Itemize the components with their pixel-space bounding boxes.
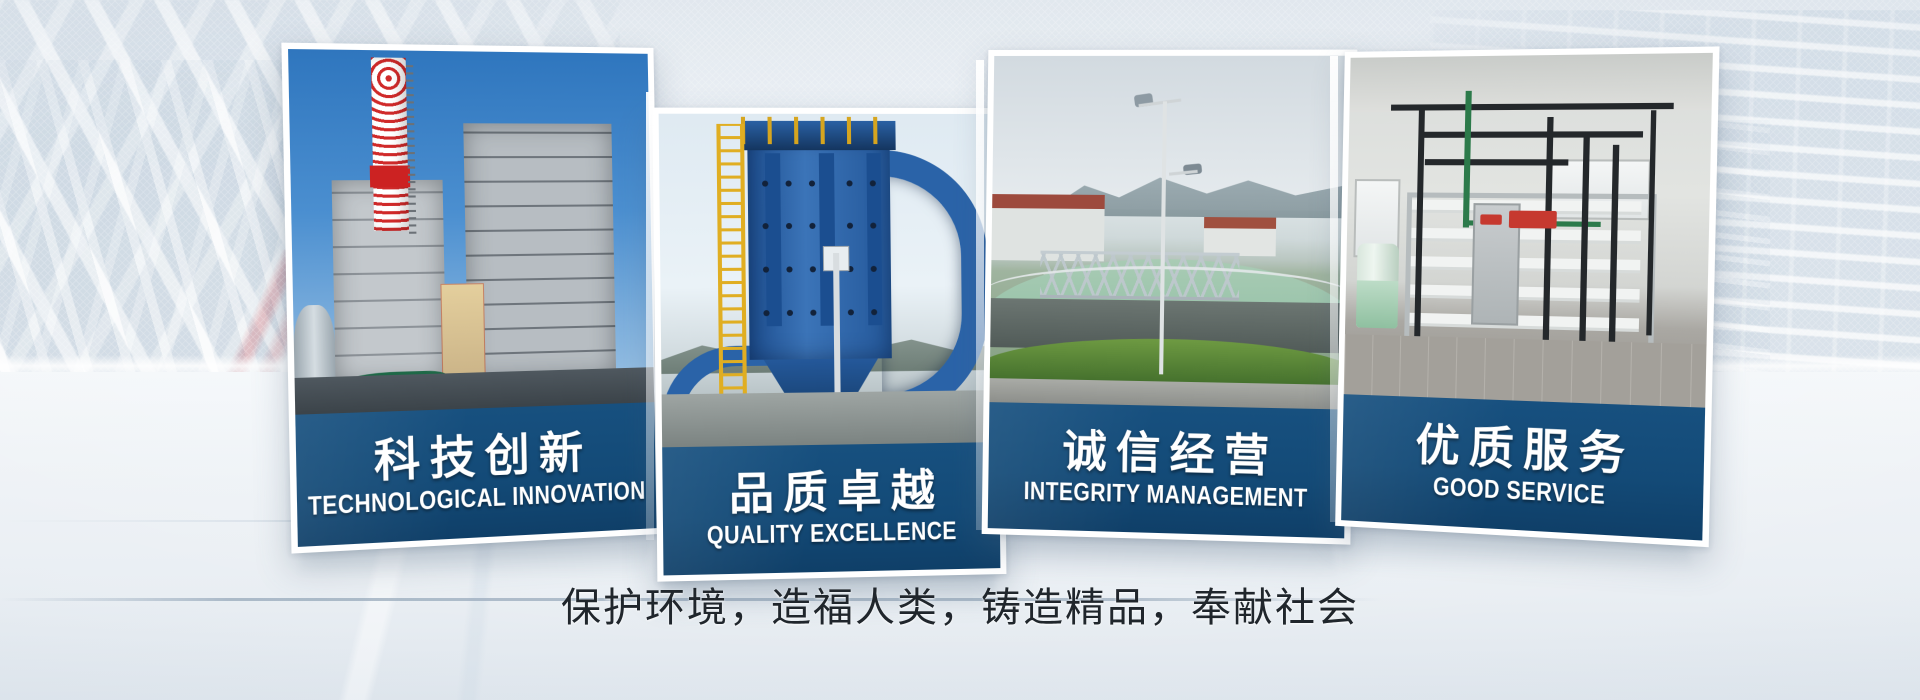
card-caption-band: 品质卓越 QUALITY EXCELLENCE bbox=[662, 442, 1000, 575]
card-integrity-management[interactable]: 诚信经营 INTEGRITY MANAGEMENT bbox=[982, 50, 1358, 545]
card-title-en: GOOD SERVICE bbox=[1432, 474, 1605, 508]
card-title-en: TECHNOLOGICAL INNOVATION bbox=[308, 478, 646, 520]
banner-tagline: 保护环境，造福人类，铸造精品，奉献社会 bbox=[0, 588, 1920, 628]
card-divider-3 bbox=[1330, 56, 1338, 522]
card-quality-excellence[interactable]: 品质卓越 QUALITY EXCELLENCE bbox=[652, 108, 1006, 582]
card-technological-innovation[interactable]: 科技创新 TECHNOLOGICAL INNOVATION bbox=[281, 43, 662, 554]
card-title-cn: 品质卓越 bbox=[720, 469, 945, 517]
wastewater-clarifier-photo bbox=[989, 56, 1351, 410]
dust-collector-photo bbox=[659, 114, 999, 448]
card-caption-band: 科技创新 TECHNOLOGICAL INNOVATION bbox=[295, 402, 656, 547]
card-title-en: INTEGRITY MANAGEMENT bbox=[1024, 479, 1308, 512]
card-divider-2 bbox=[976, 60, 984, 530]
card-title-en: QUALITY EXCELLENCE bbox=[707, 518, 957, 548]
banner-stage: 科技创新 TECHNOLOGICAL INNOVATION bbox=[0, 0, 1920, 700]
ro-membrane-system-photo bbox=[1344, 53, 1713, 408]
industrial-stack-photo bbox=[288, 49, 654, 415]
card-divider-1 bbox=[646, 92, 654, 540]
card-title-cn: 科技创新 bbox=[364, 430, 593, 485]
card-caption-band: 诚信经营 INTEGRITY MANAGEMENT bbox=[988, 402, 1346, 538]
card-title-cn: 诚信经营 bbox=[1053, 429, 1279, 479]
card-title-cn: 优质服务 bbox=[1406, 422, 1635, 477]
card-caption-band: 优质服务 GOOD SERVICE bbox=[1341, 394, 1705, 540]
card-good-service[interactable]: 优质服务 GOOD SERVICE bbox=[1335, 46, 1719, 547]
